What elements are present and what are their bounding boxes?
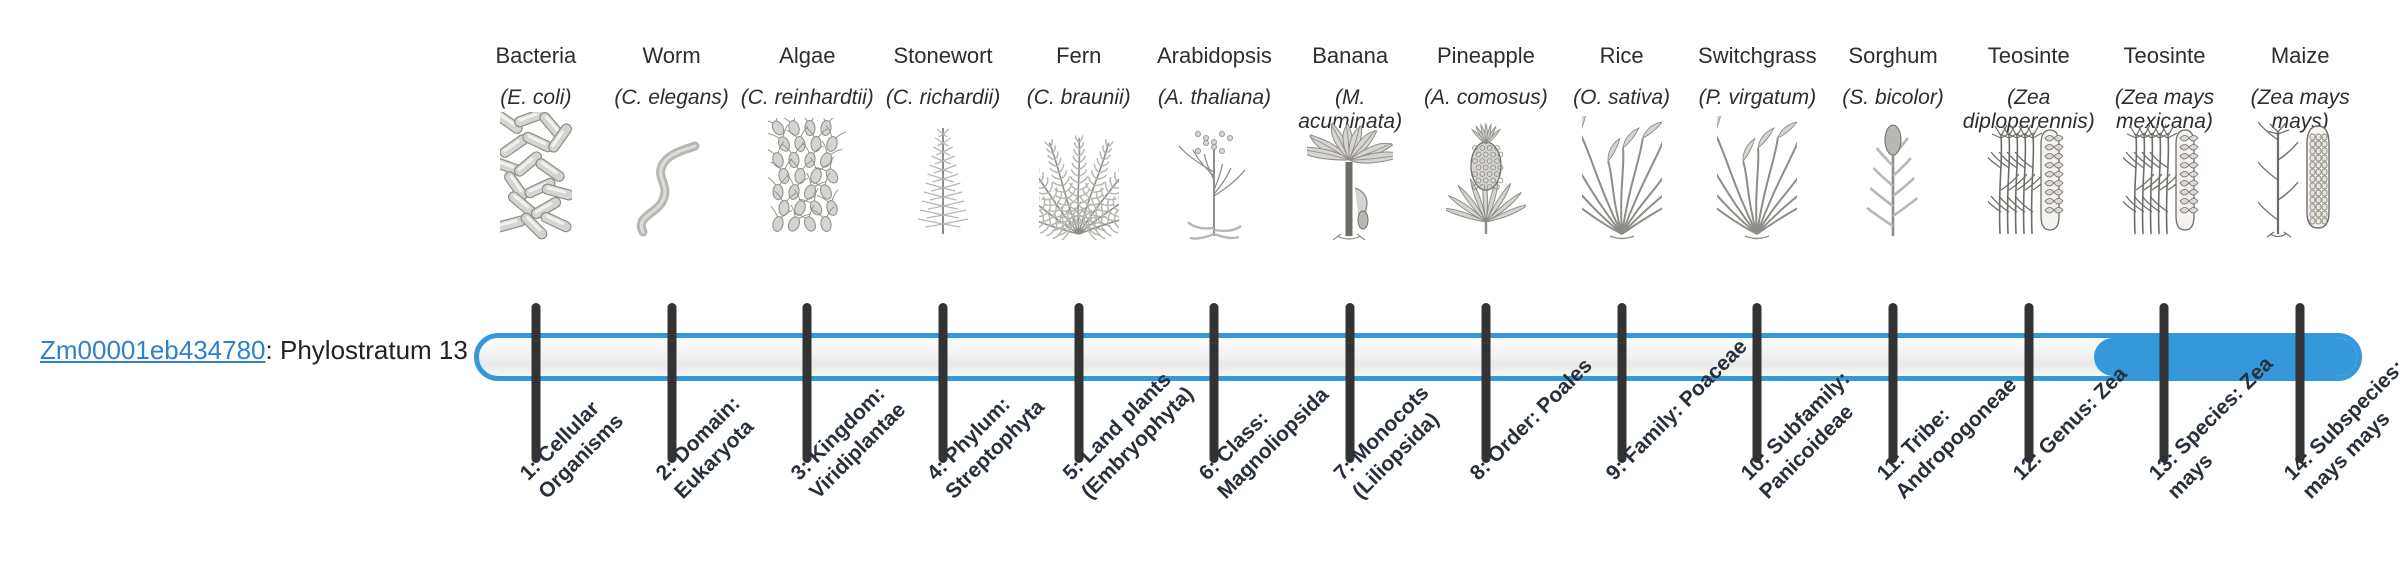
stratum-rank-number: 2: (651, 455, 680, 484)
stratum-tick (803, 303, 812, 463)
stratum-tick (939, 303, 948, 463)
species-common-name: Pineapple (1437, 44, 1535, 74)
stratum-rank-text: Domain: Eukaryota (669, 392, 758, 503)
phylostratum-figure: Zm00001eb434780: Phylostratum 13 Bacteri… (0, 0, 2400, 580)
species-column: Arabidopsis(A. thaliana) (1147, 44, 1283, 240)
species-common-name: Sorghum (1848, 44, 1937, 74)
gene-id-link[interactable]: Zm00001eb434780 (40, 335, 266, 365)
stratum-rank-number: 12: (2009, 447, 2047, 485)
nematode-worm-illustration (604, 140, 740, 240)
species-column: Bacteria(E. coli) (468, 44, 604, 240)
species-column: Switchgrass(P. virgatum) (1689, 44, 1825, 240)
stratum-rank-number: 6: (1194, 455, 1223, 484)
stratum-tick (1346, 303, 1355, 463)
species-common-name: Switchgrass (1698, 44, 1817, 74)
stratum-rank-number: 10: (1737, 447, 1775, 485)
stratum-rank-number: 13: (2144, 447, 2182, 485)
stratum-tick (667, 303, 676, 463)
stratum-tick (2160, 303, 2169, 463)
stratum-tick (1617, 303, 1626, 463)
stratum-rank-number: 7: (1330, 455, 1359, 484)
progress-track (474, 333, 2362, 381)
species-column: Teosinte(Zea mays mexicana) (2097, 44, 2233, 240)
teosinte-plant-and-ear-illustration (1961, 140, 2097, 240)
species-column: Algae(C. reinhardtii) (739, 44, 875, 240)
stratum-rank-text: Cellular Organisms (533, 397, 628, 503)
rice-plant-illustration (1554, 140, 1690, 240)
species-common-name: Worm (642, 44, 700, 74)
stratum-rank-number: 11: (1873, 448, 1910, 485)
species-column: Sorghum(S. bicolor) (1825, 44, 1961, 240)
species-column: Worm(C. elegans) (604, 44, 740, 240)
sorghum-illustration (1825, 140, 1961, 240)
algae-cells-illustration (739, 140, 875, 240)
stratum-rank-text: Monocots (Liliopsida) (1347, 381, 1443, 503)
stratum-tick (1481, 303, 1490, 463)
stratum-tick (1753, 303, 1762, 463)
species-column: Maize(Zea mays mays) (2232, 44, 2368, 240)
species-column: Fern(C. braunii) (1011, 44, 1147, 240)
stratum-rank-number: 3: (787, 455, 816, 484)
arabidopsis-illustration (1147, 140, 1283, 240)
species-column: Banana(M. acuminata) (1282, 44, 1418, 240)
stratum-tick (1074, 303, 1083, 463)
stratum-tick (1889, 303, 1898, 463)
stratum-rank-text: Tribe: Andropogoneae (1891, 373, 2021, 503)
stratum-rank-number: 1: (516, 455, 545, 484)
stratum-tick (2024, 303, 2033, 463)
progress-fill (2094, 338, 2358, 376)
maize-plant-and-ear-illustration (2232, 140, 2368, 240)
fern-illustration (1011, 140, 1147, 240)
stratum-rank-number: 14: (2280, 447, 2318, 485)
species-header-strip: Bacteria(E. coli)Worm(C. elegans)Algae(C… (468, 44, 2368, 306)
pineapple-illustration (1418, 140, 1554, 240)
stratum-rank-number: 8: (1466, 455, 1495, 484)
species-column: Stonewort(C. richardii) (875, 44, 1011, 240)
species-common-name: Fern (1056, 44, 1101, 74)
species-scientific-name: (C. elegans) (604, 86, 740, 136)
teosinte-plant-and-ear-illustration (2097, 140, 2233, 240)
stratum-rank-text: Class: Magnoliopsida (1212, 383, 1333, 503)
stratum-rank-number: 5: (1059, 455, 1088, 484)
stratum-rank-number: 9: (1601, 455, 1630, 484)
species-common-name: Teosinte (1988, 44, 2070, 74)
bacteria-illustration (468, 140, 604, 240)
species-common-name: Bacteria (496, 44, 577, 74)
species-common-name: Stonewort (893, 44, 992, 74)
species-column: Rice(O. sativa) (1554, 44, 1690, 240)
banana-plant-illustration (1282, 140, 1418, 240)
species-common-name: Banana (1312, 44, 1388, 74)
stratum-rank-number: 4: (923, 455, 952, 484)
stratum-rank-label-group: 1: Cellular Organisms2: Domain: Eukaryot… (468, 468, 2368, 580)
phylostratum-value-text: Phylostratum 13 (280, 335, 468, 365)
stratum-tick (531, 303, 540, 463)
stratum-rank-text: Kingdom: Viridiplantae (804, 382, 910, 503)
stratum-rank-text: Phylum: Streptophyta (940, 393, 1049, 503)
species-column: Teosinte(Zea diploperennis) (1961, 44, 2097, 240)
species-common-name: Rice (1600, 44, 1644, 74)
stratum-tick (2296, 303, 2305, 463)
species-common-name: Teosinte (2124, 44, 2206, 74)
species-column: Pineapple(A. comosus) (1418, 44, 1554, 240)
gene-label-separator: : (266, 335, 280, 365)
stratum-rank-text: Subfamily: Panicoideae (1755, 367, 1858, 503)
species-common-name: Algae (779, 44, 835, 74)
species-common-name: Maize (2271, 44, 2330, 74)
stratum-tick-group (468, 303, 2368, 463)
stratum-rank-text: Land plants (Embryophyta) (1076, 368, 1198, 503)
phylostratum-progress-bar[interactable] (474, 333, 2362, 381)
gene-phylostratum-label: Zm00001eb434780: Phylostratum 13 (40, 336, 460, 365)
stonewort-illustration (875, 140, 1011, 240)
stratum-tick (1210, 303, 1219, 463)
switchgrass-illustration (1689, 140, 1825, 240)
species-common-name: Arabidopsis (1157, 44, 1272, 74)
